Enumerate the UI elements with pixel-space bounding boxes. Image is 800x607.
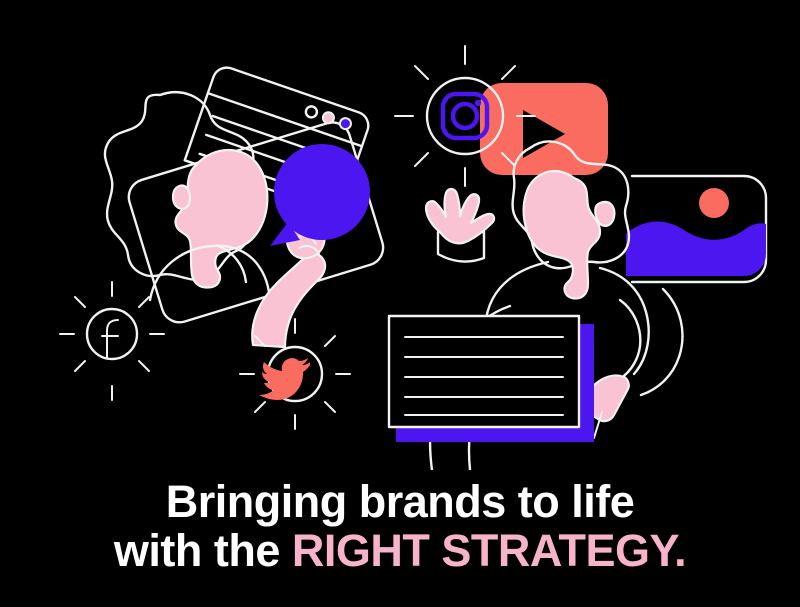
headline-accent: RIGHT STRATEGY.	[292, 525, 686, 576]
document-card-face	[389, 316, 579, 427]
headline-line-1: Bringing brands to life	[0, 478, 800, 527]
headline: Bringing brands to life with the RIGHT S…	[0, 478, 800, 575]
headline-line-2: with the RIGHT STRATEGY.	[0, 527, 800, 576]
figure-right-ear	[595, 202, 614, 226]
image-card-sun	[699, 188, 729, 218]
hero-illustration: .ln { fill:none; stroke:#f2f2f2; stroke-…	[0, 0, 800, 470]
youtube-play-icon	[480, 83, 608, 175]
figure-left-ear	[173, 186, 190, 209]
document-card	[389, 316, 594, 442]
poster-canvas: .ln { fill:none; stroke:#f2f2f2; stroke-…	[0, 0, 800, 607]
headline-line-2-prefix: with the	[114, 525, 292, 576]
